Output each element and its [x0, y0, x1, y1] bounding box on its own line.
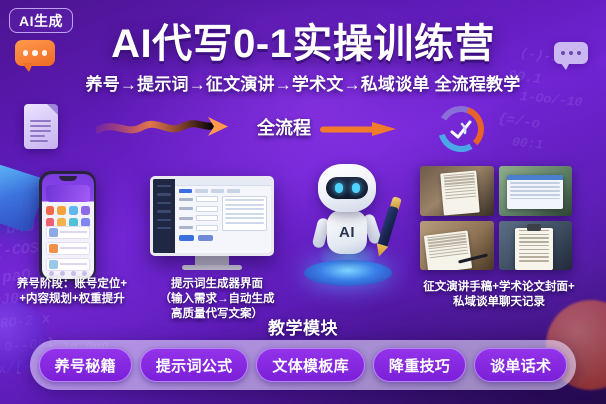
page-subtitle: 养号→提示词→征文演讲→学术文→私域谈单 全流程教学 — [0, 70, 606, 95]
caption-line: +内容规划+权重提升 — [2, 292, 142, 307]
flow-label: 全流程 — [252, 114, 316, 140]
photo-manuscript — [420, 166, 494, 216]
phone-mockup — [39, 171, 96, 281]
module-pill-reduce[interactable]: 降重技巧 — [373, 348, 466, 382]
module-pill-yanghao[interactable]: 养号秘籍 — [39, 348, 132, 382]
page-title: AI代写0-1实操训练营 — [0, 24, 606, 64]
caption-phone: 养号阶段：账号定位+ +内容规划+权重提升 — [2, 277, 142, 307]
process-strip: 全流程 — [0, 100, 606, 162]
caption-line: 养号阶段：账号定位+ — [2, 277, 142, 292]
donut-chart-icon — [434, 102, 488, 156]
module-pill-prompt[interactable]: 提示词公式 — [140, 348, 249, 382]
photo-grid — [420, 166, 572, 270]
modules-panel: 养号秘籍 提示词公式 文体模板库 降重技巧 谈单话术 — [30, 340, 576, 390]
ai-robot-mascot: AI — [296, 158, 400, 286]
code-glyph: {-COS — [0, 240, 40, 261]
module-pill-sales[interactable]: 谈单话术 — [474, 348, 567, 382]
desktop-monitor-mockup — [150, 176, 274, 270]
robot-chest-label: AI — [339, 224, 355, 241]
wave-arrow-icon — [96, 114, 236, 140]
modules-title: 教学模块 — [0, 314, 606, 339]
photo-clipboard-laptop — [499, 221, 573, 271]
poster-root: [-ol ] b4O = {-COS paO )- DJ0=1 b RO-2 x… — [0, 0, 606, 404]
photo-chat-window — [499, 166, 573, 216]
document-icon — [24, 104, 58, 149]
caption-line: 私域谈单聊天记录 — [404, 295, 594, 310]
arrow-right-icon — [320, 122, 398, 136]
caption-line: 提示词生成器界面 — [142, 277, 292, 292]
photo-papers-pen — [420, 221, 494, 271]
module-pill-template[interactable]: 文体模板库 — [256, 348, 365, 382]
caption-line: 征文演讲手稿+学术论文封面+ — [404, 280, 594, 295]
caption-photos: 征文演讲手稿+学术论文封面+ 私域谈单聊天记录 — [404, 280, 594, 310]
caption-line: （输入需求→自动生成 — [142, 292, 292, 307]
